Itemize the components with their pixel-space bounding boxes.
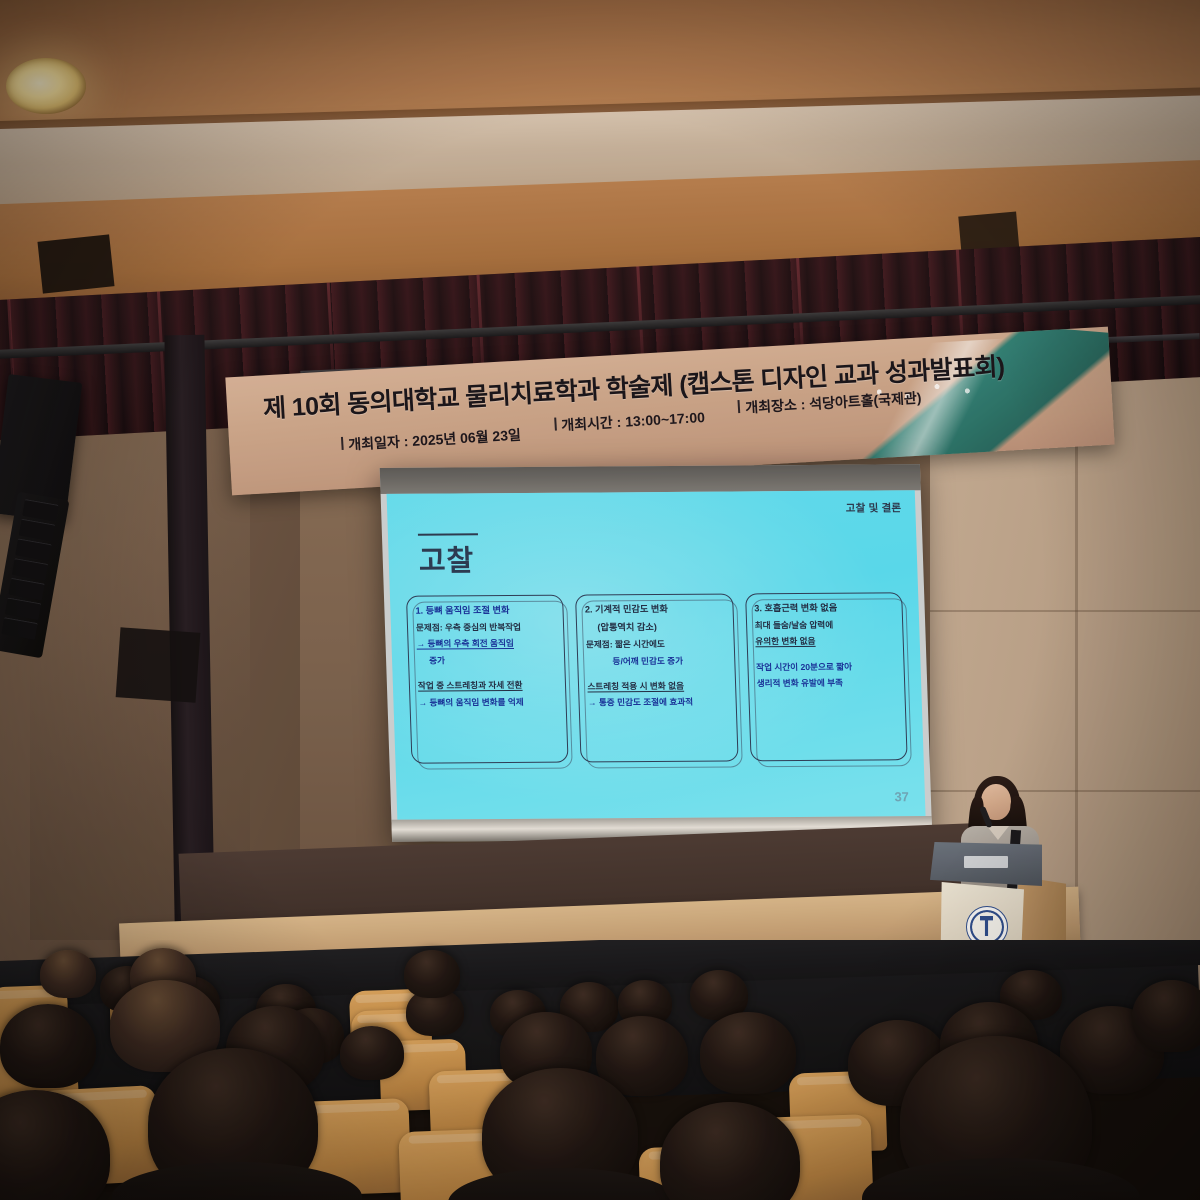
box-body: 1. 등뼈 움직임 조절 변화 문제점: 우측 중심의 반복작업 → 등뼈의 우… xyxy=(406,595,569,764)
box3-line-1: 최대 들숨/날숨 압력에 xyxy=(755,619,896,631)
banner-time: 개최시간 : 13:00~17:00 xyxy=(554,407,706,436)
slide-box-1: 1. 등뼈 움직임 조절 변화 문제점: 우측 중심의 반복작업 → 등뼈의 우… xyxy=(406,595,569,764)
ceiling-downlight-icon xyxy=(6,58,86,114)
audience-shoulders xyxy=(862,1158,1140,1200)
slide-box-3: 3. 호흡근력 변화 없음 최대 들숨/날숨 압력에 유의한 변화 없음 작업 … xyxy=(745,592,908,761)
banner-date: 개최일자 : 2025년 06월 23일 xyxy=(341,425,522,455)
box3-line-2: 유의한 변화 없음 xyxy=(755,636,896,648)
box2-footer-1: 스트레칭 적용 시 변화 없음 xyxy=(587,680,728,692)
box-body: 2. 기계적 민감도 변화 (압통역치 감소) 문제점: 짧은 시간에도 등/어… xyxy=(575,593,738,762)
slide-title-rule xyxy=(418,533,478,535)
screen-top-bar xyxy=(380,464,921,494)
slide-page-number: 37 xyxy=(894,789,909,804)
box2-line-1: 문제점: 짧은 시간에도 xyxy=(586,639,727,651)
slide-box-2: 2. 기계적 민감도 변화 (압통역치 감소) 문제점: 짧은 시간에도 등/어… xyxy=(575,593,738,762)
box3-footer-2: 생리적 변화 유발에 부족 xyxy=(757,677,898,689)
slide-section-label: 고찰 및 결론 xyxy=(846,500,902,515)
audience-head xyxy=(340,1026,404,1080)
box2-footer-2: → 통증 민감도 조절에 효과적 xyxy=(588,697,729,709)
podium-top xyxy=(930,842,1042,886)
audience-head xyxy=(40,950,96,998)
audience-head xyxy=(700,1012,796,1094)
projection-screen: 고찰 및 결론 고찰 1. 등뼈 움직임 조절 변화 문제점: 우측 중심의 반… xyxy=(380,464,933,842)
box1-line-3: 증가 xyxy=(417,655,558,667)
box3-footer-1: 작업 시간이 20분으로 짧아 xyxy=(756,661,897,673)
audience-head xyxy=(0,1004,96,1088)
auditorium-photo: 제 10회 동의대학교 물리치료학과 학술제 (캡스톤 디자인 교과 성과발표회… xyxy=(0,0,1200,1200)
audience-head xyxy=(404,950,460,998)
audience-head xyxy=(1132,980,1200,1052)
slide-title: 고찰 xyxy=(418,537,475,579)
box1-line-1: 문제점: 우측 중심의 반복작업 xyxy=(416,622,557,634)
box1-footer-1: 작업 중 스트레칭과 자세 전환 xyxy=(418,680,559,692)
wall-seam xyxy=(1075,372,1078,972)
box2-line-2: 등/어깨 민감도 증가 xyxy=(586,655,727,667)
podium-nameplate xyxy=(964,856,1008,868)
audience xyxy=(0,940,1200,1200)
box-body: 3. 호흡근력 변화 없음 최대 들숨/날숨 압력에 유의한 변화 없음 작업 … xyxy=(745,592,908,761)
box1-footer-2: → 등뼈의 움직임 변화를 억제 xyxy=(418,696,559,708)
ceiling-vent-icon xyxy=(37,234,114,293)
box2-heading: 2. 기계적 민감도 변화 xyxy=(585,603,726,616)
box3-heading: 3. 호흡근력 변화 없음 xyxy=(754,601,895,614)
box1-heading: 1. 등뼈 움직임 조절 변화 xyxy=(415,604,556,617)
presentation-slide: 고찰 및 결론 고찰 1. 등뼈 움직임 조절 변화 문제점: 우측 중심의 반… xyxy=(387,490,926,820)
speaker-cabinet xyxy=(116,627,201,702)
box2-subheading: (압통역치 감소) xyxy=(585,621,726,634)
wall-seam xyxy=(930,610,1200,612)
slide-box-row: 1. 등뼈 움직임 조절 변화 문제점: 우측 중심의 반복작업 → 등뼈의 우… xyxy=(406,592,908,763)
box1-line-2: → 등뼈의 우측 회전 움직임 xyxy=(416,638,557,650)
